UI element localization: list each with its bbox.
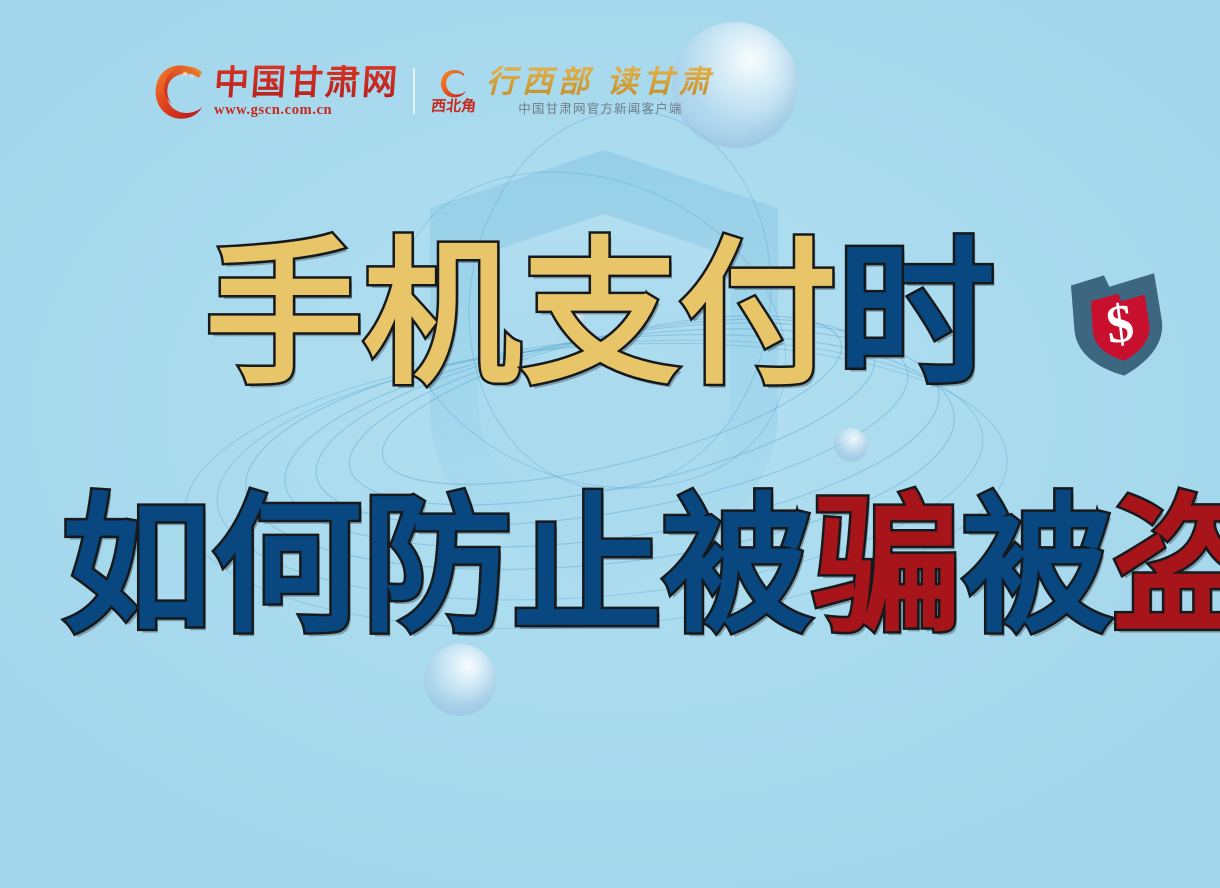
headline-char: 如 (62, 492, 212, 642)
xibeijiao-swirl-icon (440, 68, 468, 98)
headline-char: 支 (521, 236, 679, 394)
app-slogan: 行西部 读甘肃 (486, 66, 715, 97)
headline-block: 手 机 支 付 时 如 何 防 止 被 骗 被 盗 (0, 0, 1220, 888)
gscn-site-name: 中国甘肃网 (213, 65, 400, 100)
headline-char: 手 (205, 236, 363, 394)
headline-char: 被 (662, 492, 812, 642)
gscn-wordmark: 中国甘肃网 www.gscn.com.cn (214, 65, 399, 118)
poster-canvas: 中国甘肃网 www.gscn.com.cn (0, 0, 1220, 888)
app-subtitle: 中国甘肃网官方新闻客户端 (518, 103, 682, 116)
headline-char: 盗 (1112, 492, 1220, 642)
headline-line-1: 手 机 支 付 时 (205, 236, 995, 394)
xibeijiao-logo: 西北角 (431, 68, 476, 115)
headline-char: 骗 (812, 492, 962, 642)
bubble-small-mid (834, 428, 868, 462)
headline-char: 何 (212, 492, 362, 642)
headline-char: 防 (362, 492, 512, 642)
xibeijiao-app-block[interactable]: 西北角 行西部 读甘肃 中国甘肃网官方新闻客户端 (431, 66, 715, 116)
headline-char: 被 (962, 492, 1112, 642)
gscn-brand-block[interactable]: 中国甘肃网 www.gscn.com.cn (152, 60, 399, 122)
brand-divider (413, 68, 415, 114)
bubble-tiny-upper (556, 306, 586, 336)
xibeijiao-label: 西北角 (430, 100, 477, 115)
gscn-site-url: www.gscn.com.cn (214, 103, 332, 118)
headline-char: 止 (512, 492, 662, 642)
background-shield-watermark (430, 150, 778, 592)
gscn-swirl-logo-icon (152, 60, 208, 122)
bubble-medium-bottom (424, 644, 496, 716)
brand-header: 中国甘肃网 www.gscn.com.cn (152, 52, 715, 130)
headline-char: 时 (837, 236, 995, 394)
headline-char: 机 (363, 236, 521, 394)
headline-char: 付 (679, 236, 837, 394)
app-slogan-block: 行西部 读甘肃 中国甘肃网官方新闻客户端 (486, 66, 715, 116)
security-shield-dollar-icon: $ (1056, 266, 1180, 382)
headline-line-2: 如 何 防 止 被 骗 被 盗 (62, 492, 1220, 642)
background-decoration-layer (0, 0, 1220, 888)
orbit-rings-secondary (175, 91, 1017, 654)
